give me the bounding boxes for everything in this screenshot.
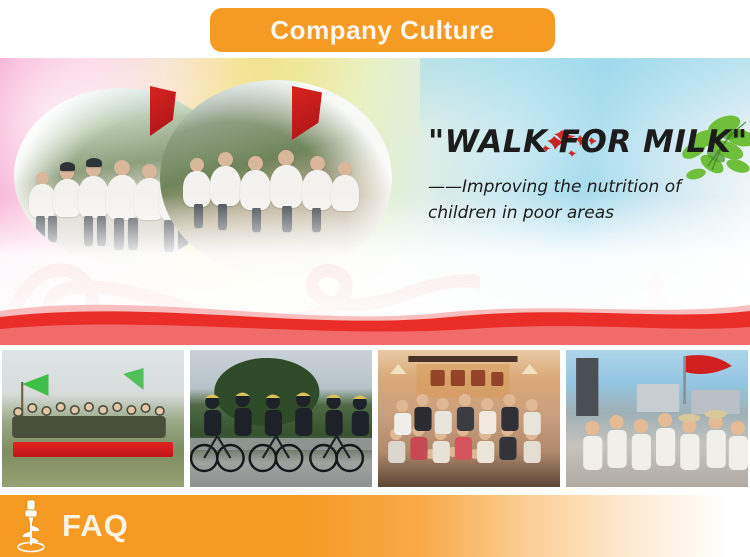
- company-culture-header: Company Culture: [0, 0, 750, 58]
- photo-team-group-content: [2, 350, 184, 487]
- company-culture-title: Company Culture: [270, 15, 494, 46]
- hero-text-block: "WALK FOR MILK" ——Improving the nutritio…: [428, 124, 738, 227]
- photo-cycling-team: [190, 350, 372, 487]
- hero-subheadline: ——Improving the nutrition of children in…: [428, 174, 733, 227]
- photo-charity-walk: [566, 350, 748, 487]
- photo-indoor-event-content: [378, 350, 560, 487]
- photo-red-banner: [13, 442, 173, 457]
- photo-cycling-team-content: [190, 350, 372, 487]
- faq-banner: FAQ: [0, 495, 750, 557]
- red-wave-floor: [0, 283, 750, 345]
- faq-label: FAQ: [62, 508, 129, 544]
- drill-auger-icon: [14, 499, 48, 553]
- photo-indoor-event: [378, 350, 560, 487]
- company-photo-strip: [0, 350, 750, 487]
- hero-headline: "WALK FOR MILK": [428, 124, 738, 160]
- walk-for-milk-hero-banner: MILK "WALK FOR MILK" ——Improving the nut…: [0, 58, 750, 345]
- company-culture-pill: Company Culture: [210, 8, 555, 52]
- photo-team-group: [2, 350, 184, 487]
- photo-charity-walk-content: [566, 350, 748, 487]
